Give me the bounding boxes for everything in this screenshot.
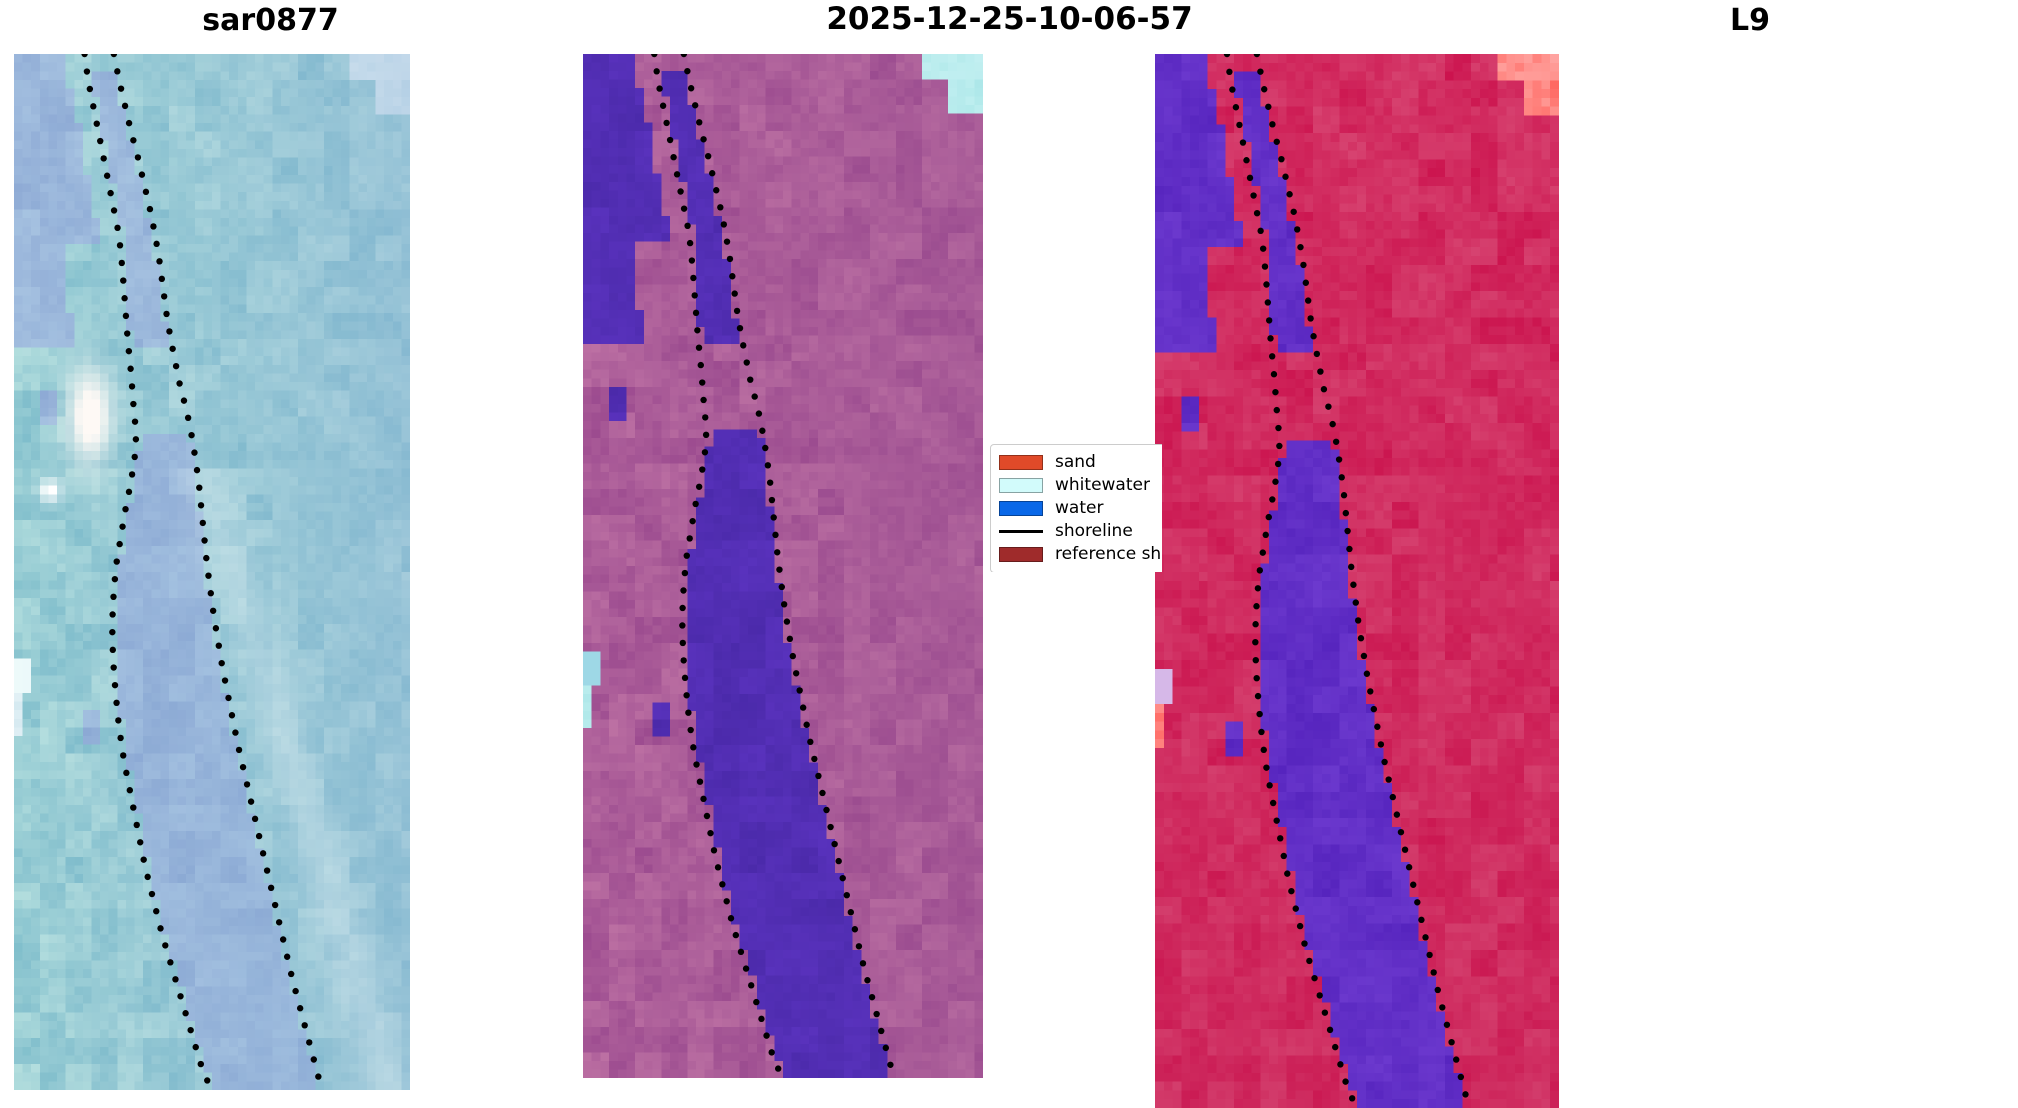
optical-raster <box>1155 54 1559 1108</box>
legend-item-sand[interactable]: sand <box>999 451 1162 474</box>
legend-swatch-shoreline-icon <box>999 524 1043 539</box>
legend-item-whitewater[interactable]: whitewater <box>999 474 1162 497</box>
legend-swatch-whitewater-icon <box>999 478 1043 493</box>
panel-title-sar: sar0877 <box>14 6 527 36</box>
legend-item-water[interactable]: water <box>999 497 1162 520</box>
legend-label: water <box>1055 500 1103 517</box>
legend-swatch-reference-icon <box>999 547 1043 562</box>
legend-item-shoreline[interactable]: shoreline <box>999 520 1162 543</box>
sar-raster <box>14 54 410 1090</box>
legend-label: sand <box>1055 454 1096 471</box>
panel-title-l9: L9 <box>1490 6 2010 36</box>
legend-label: whitewater <box>1055 477 1150 494</box>
sar-panel[interactable] <box>14 54 410 1090</box>
class-legend[interactable]: sandwhitewaterwatershorelinereference sh… <box>990 444 1162 572</box>
panel-title-timestamp: 2025-12-25-10-06-57 <box>753 4 1266 35</box>
timestamp-panel[interactable] <box>583 54 983 1078</box>
classified-raster <box>583 54 983 1078</box>
legend-label: shoreline <box>1055 523 1133 540</box>
figure-canvas: sar0877 2025-12-25-10-06-57 L9 sandwhite… <box>0 0 2018 1108</box>
legend-clip-region: sandwhitewaterwatershorelinereference sh… <box>990 444 1162 572</box>
l9-panel[interactable] <box>1155 54 1559 1108</box>
legend-label: reference shoreline <box>1055 546 1162 563</box>
legend-item-reference[interactable]: reference shoreline <box>999 543 1162 566</box>
legend-swatch-sand-icon <box>999 455 1043 470</box>
legend-swatch-water-icon <box>999 501 1043 516</box>
